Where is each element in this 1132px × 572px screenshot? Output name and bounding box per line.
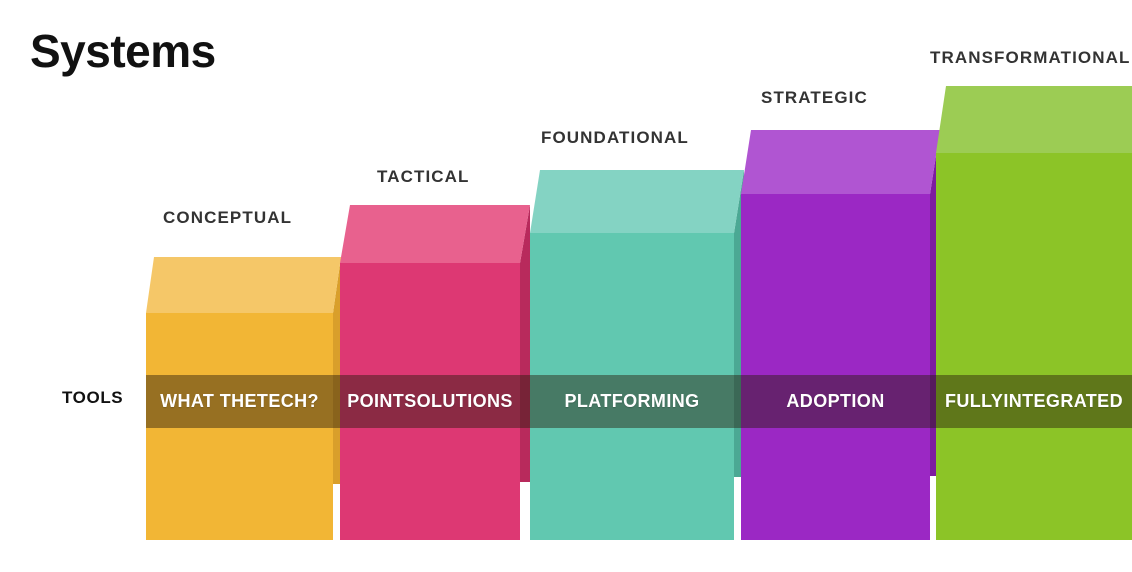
block-caption: FULLYINTEGRATED — [936, 375, 1132, 428]
caption-line: FULLY — [945, 392, 1003, 411]
caption-line: INTEGRATED — [1003, 392, 1123, 411]
stage-label: TRANSFORMATIONAL — [930, 48, 1130, 68]
maturity-block[interactable]: FULLYINTEGRATEDTRANSFORMATIONAL — [0, 0, 1132, 572]
infographic-canvas: Systems TOOLS WHAT THETECH?CONCEPTUALPOI… — [0, 0, 1132, 572]
block-front-face — [936, 153, 1132, 540]
block-top-face — [936, 86, 1132, 153]
